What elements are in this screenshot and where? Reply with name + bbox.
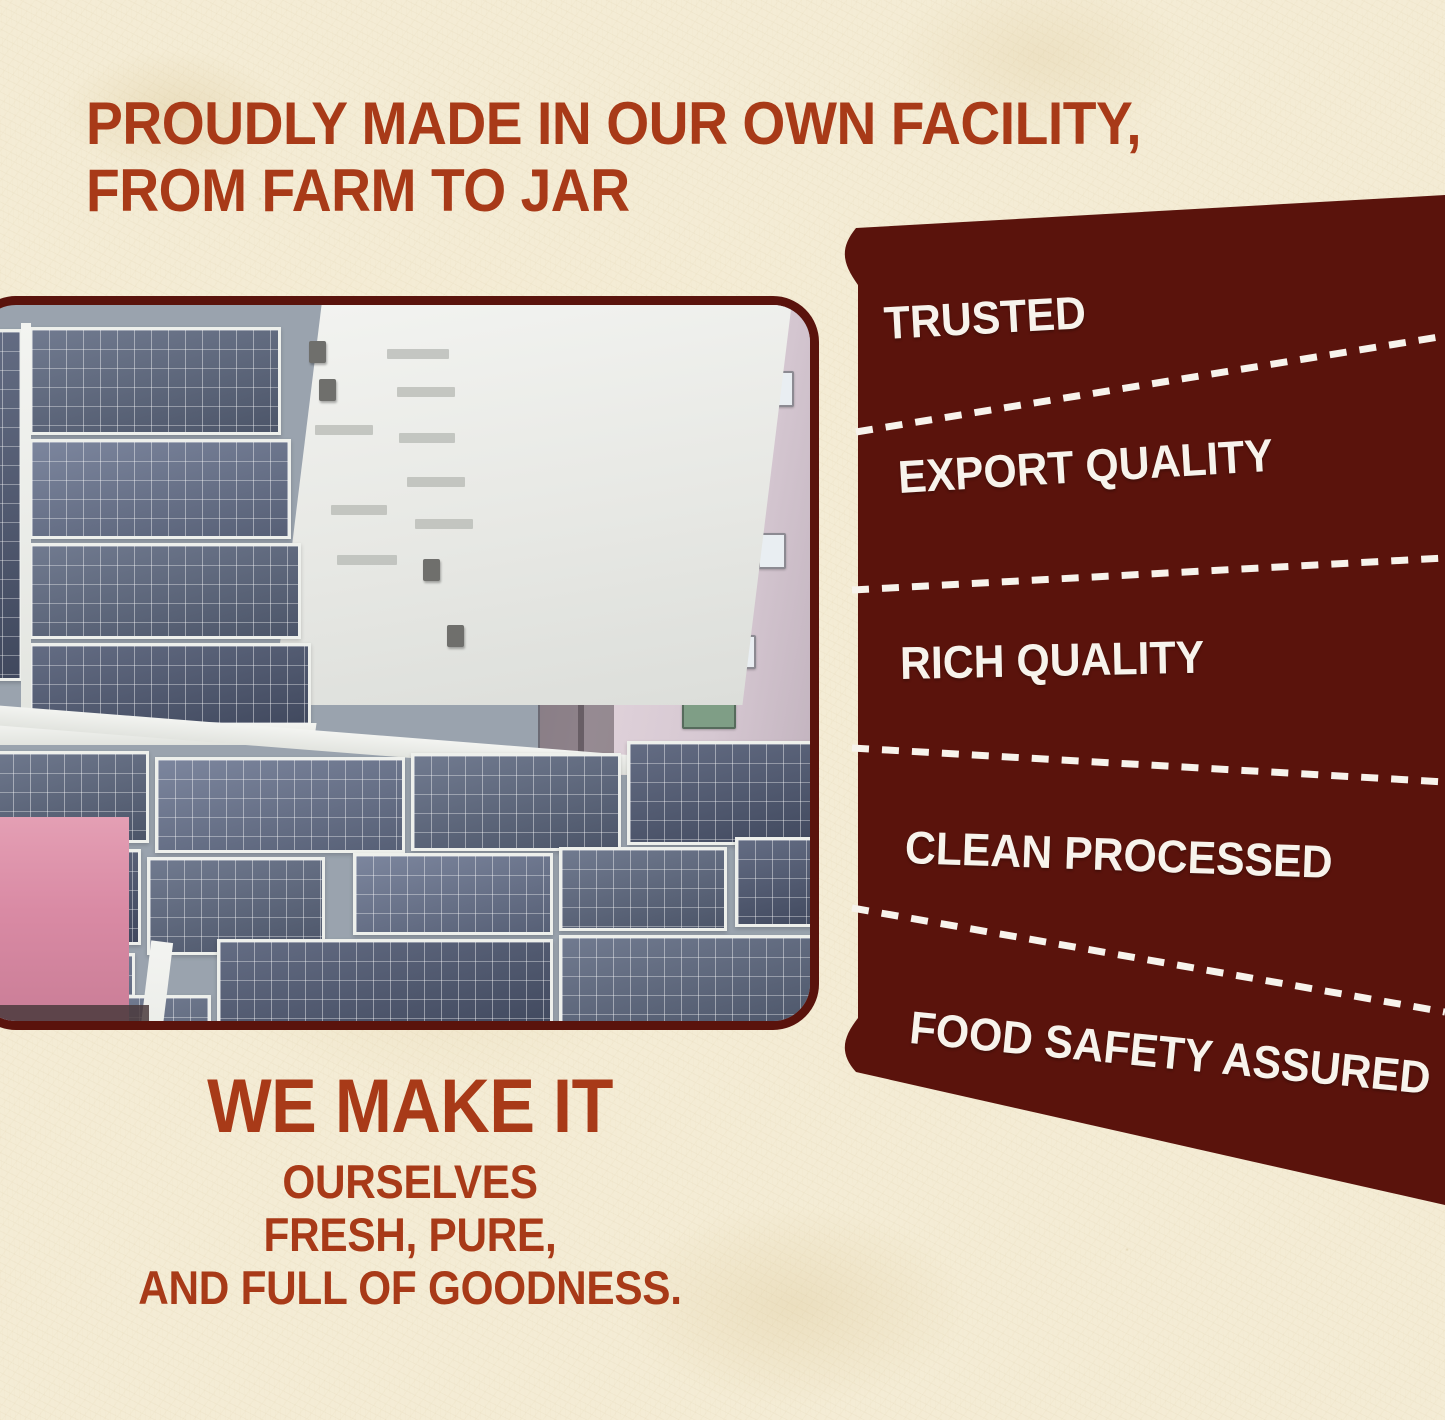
photo-deck-marking bbox=[315, 425, 373, 435]
photo-deck-marking bbox=[397, 387, 455, 397]
tagline-line-3: FRESH, PURE, bbox=[41, 1209, 779, 1262]
photo-solar-array bbox=[353, 853, 553, 935]
feature-item-trusted: TRUSTED bbox=[883, 285, 1088, 350]
photo-solar-array bbox=[411, 753, 621, 851]
photo-solar-array bbox=[627, 741, 810, 845]
photo-roof-walkway bbox=[21, 323, 31, 735]
photo-solar-array bbox=[29, 439, 291, 539]
headline-line-1: PROUDLY MADE IN OUR OWN FACILITY, bbox=[86, 90, 932, 157]
photo-solar-array bbox=[559, 847, 727, 931]
tagline-line-4: AND FULL OF GOODNESS. bbox=[41, 1262, 779, 1315]
photo-solar-array bbox=[559, 935, 810, 1021]
photo-solar-array bbox=[29, 543, 301, 639]
feature-item-rich-quality: RICH QUALITY bbox=[899, 630, 1204, 690]
headline-line-2: FROM FARM TO JAR bbox=[86, 157, 932, 224]
photo-solar-array bbox=[0, 329, 23, 681]
photo-roof-vent bbox=[423, 559, 440, 581]
promo-poster: PROUDLY MADE IN OUR OWN FACILITY, FROM F… bbox=[0, 0, 1445, 1420]
facility-rooftop-photo bbox=[0, 305, 810, 1021]
photo-deck-marking bbox=[337, 555, 397, 565]
photo-roof-vent bbox=[319, 379, 336, 401]
photo-roof-vent bbox=[447, 625, 464, 647]
tagline-line-2: OURSELVES bbox=[41, 1156, 779, 1209]
photo-deck-marking bbox=[415, 519, 473, 529]
photo-solar-array bbox=[217, 939, 553, 1021]
photo-pink-wall bbox=[0, 817, 129, 1021]
photo-deck-marking bbox=[331, 505, 387, 515]
bottom-tagline: WE MAKE IT OURSELVES FRESH, PURE, AND FU… bbox=[0, 1070, 820, 1314]
photo-building-shadow bbox=[0, 1005, 149, 1021]
headline: PROUDLY MADE IN OUR OWN FACILITY, FROM F… bbox=[86, 90, 932, 224]
tagline-line-1: WE MAKE IT bbox=[41, 1070, 779, 1144]
facility-photo-frame bbox=[0, 296, 819, 1030]
photo-solar-array bbox=[155, 757, 405, 853]
photo-roof-sheet bbox=[682, 703, 736, 729]
photo-deck-marking bbox=[387, 349, 449, 359]
photo-solar-array bbox=[29, 327, 281, 435]
photo-deck-marking bbox=[399, 433, 455, 443]
photo-roof-vent bbox=[309, 341, 326, 363]
photo-solar-array bbox=[735, 837, 810, 927]
photo-deck-marking bbox=[407, 477, 465, 487]
